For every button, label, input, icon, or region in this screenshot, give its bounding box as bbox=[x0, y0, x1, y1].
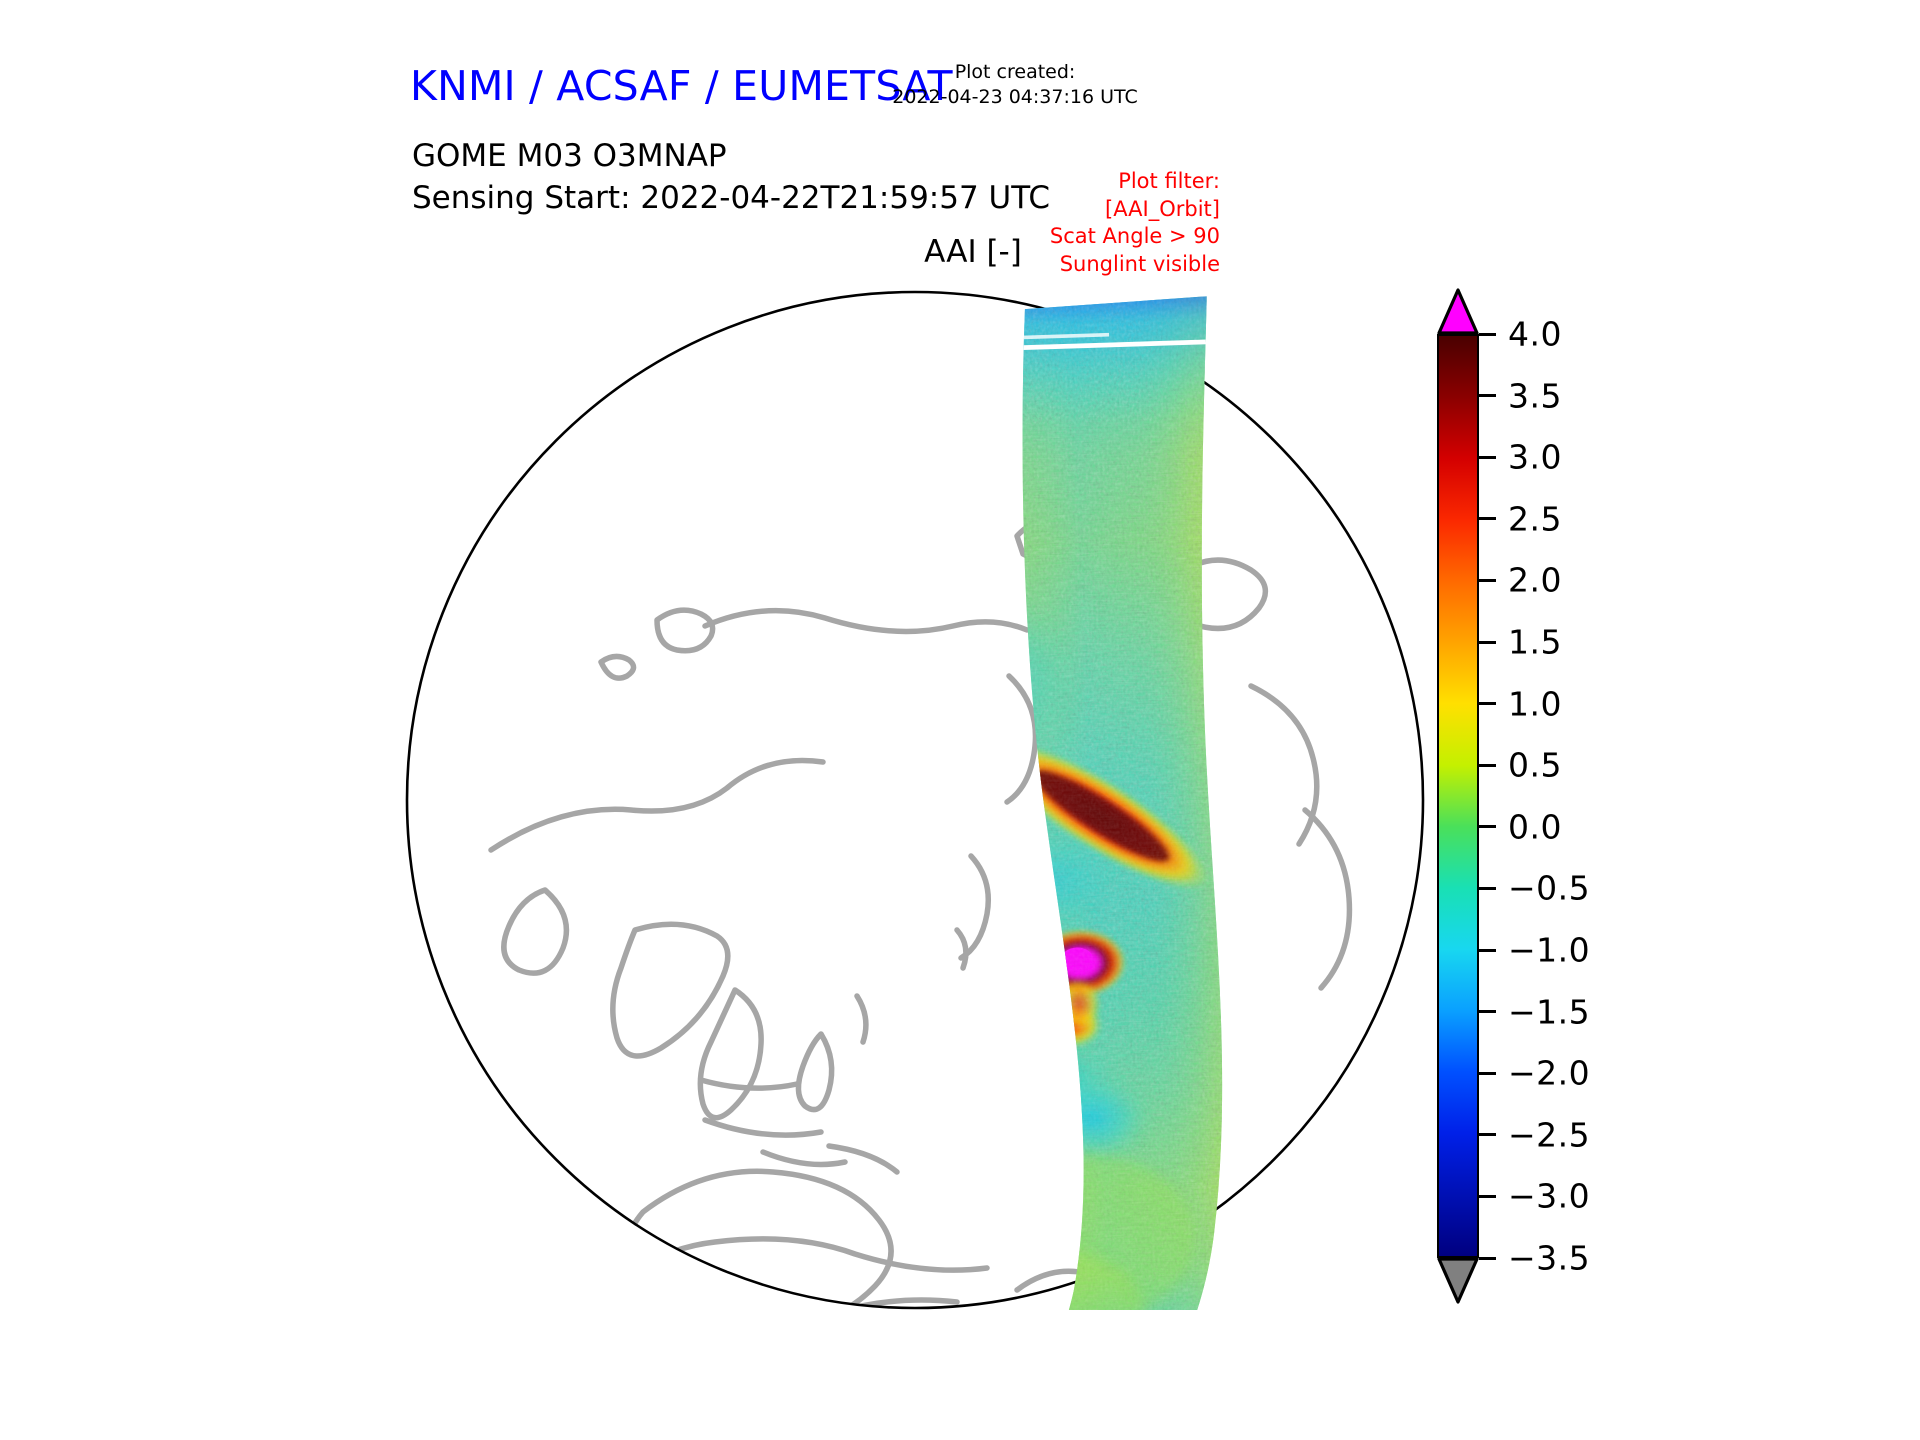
colorbar-gradient bbox=[1439, 336, 1477, 1256]
map-plot-area bbox=[405, 290, 1425, 1310]
colorbar-tick-label: −3.5 bbox=[1508, 1239, 1590, 1278]
colorbar-tick-label: −2.0 bbox=[1508, 1054, 1590, 1093]
aai-swath-raster bbox=[405, 290, 1425, 1310]
colorbar-tick bbox=[1479, 1010, 1496, 1013]
colorbar: 4.03.53.02.52.01.51.00.50.0−0.5−1.0−1.5−… bbox=[1432, 280, 1722, 1310]
colorbar-tick bbox=[1479, 887, 1496, 890]
colorbar-tick-label: 4.0 bbox=[1508, 315, 1562, 354]
colorbar-tick bbox=[1479, 764, 1496, 767]
colorbar-tick-label: 2.5 bbox=[1508, 499, 1562, 538]
colorbar-tick bbox=[1479, 1072, 1496, 1075]
colorbar-tick bbox=[1479, 517, 1496, 520]
plot-created-value: 2022-04-23 04:37:16 UTC bbox=[855, 85, 1175, 110]
colorbar-tick bbox=[1479, 579, 1496, 582]
colorbar-tick-label: 2.0 bbox=[1508, 561, 1562, 600]
plot-filter-title: Plot filter: bbox=[890, 168, 1220, 196]
colorbar-tick-label: −2.5 bbox=[1508, 1115, 1590, 1154]
colorbar-tick bbox=[1479, 456, 1496, 459]
colorbar-over-range-arrow bbox=[1437, 288, 1479, 335]
colorbar-tick-label: −1.0 bbox=[1508, 931, 1590, 970]
swath-pixels bbox=[906, 290, 1271, 1310]
plot-created-block: Plot created: 2022-04-23 04:37:16 UTC bbox=[855, 60, 1175, 110]
colorbar-under-range-arrow bbox=[1437, 1257, 1479, 1304]
colorbar-tick bbox=[1479, 825, 1496, 828]
colorbar-tick-label: 0.5 bbox=[1508, 746, 1562, 785]
plot-created-label: Plot created: bbox=[855, 60, 1175, 85]
colorbar-tick bbox=[1479, 1133, 1496, 1136]
colorbar-tick-label: 0.0 bbox=[1508, 807, 1562, 846]
colorbar-tick bbox=[1479, 394, 1496, 397]
plot-filter-line1: [AAI_Orbit] bbox=[890, 196, 1220, 224]
plot-filter-block: Plot filter: [AAI_Orbit] Scat Angle > 90… bbox=[890, 168, 1220, 278]
colorbar-tick-label: −3.0 bbox=[1508, 1177, 1590, 1216]
colorbar-tick bbox=[1479, 333, 1496, 336]
colorbar-tick-label: −1.5 bbox=[1508, 992, 1590, 1031]
colorbar-tick-label: 3.0 bbox=[1508, 438, 1562, 477]
plot-filter-line2: Scat Angle > 90 bbox=[890, 223, 1220, 251]
colorbar-tick bbox=[1479, 1257, 1496, 1260]
colorbar-tick bbox=[1479, 641, 1496, 644]
colorbar-tick bbox=[1479, 1195, 1496, 1198]
colorbar-tick bbox=[1479, 949, 1496, 952]
colorbar-tick-label: 1.0 bbox=[1508, 684, 1562, 723]
colorbar-tick-label: 1.5 bbox=[1508, 623, 1562, 662]
colorbar-tick-label: −0.5 bbox=[1508, 869, 1590, 908]
colorbar-tick-label: 3.5 bbox=[1508, 376, 1562, 415]
colorbar-bar bbox=[1437, 334, 1479, 1258]
plot-filter-line3: Sunglint visible bbox=[890, 251, 1220, 279]
colorbar-tick bbox=[1479, 702, 1496, 705]
